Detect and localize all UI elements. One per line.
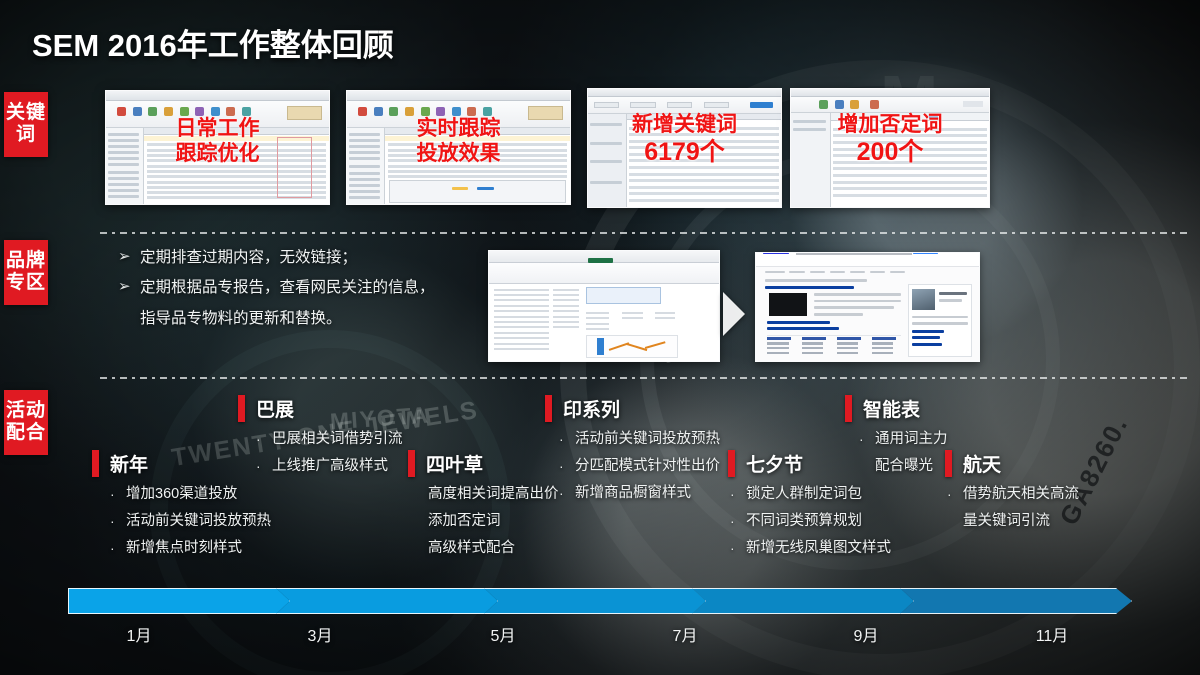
list-bullet-icon: · <box>110 511 126 531</box>
event-accent-bar <box>92 450 99 477</box>
event-accent-bar <box>845 395 852 422</box>
event-title: 印系列 <box>563 395 620 422</box>
event-title: 四叶草 <box>426 450 483 477</box>
month-label: 1月 <box>127 622 152 646</box>
brandzone-bullet-1-text: 定期排查过期内容，无效链接； <box>140 246 357 269</box>
brandzone-bullet-2: ➢ 定期根据品专报告，查看网民关注的信息， <box>118 276 498 299</box>
keyword-card-1[interactable]: 日常工作 跟踪优化 <box>105 90 330 205</box>
month-label: 9月 <box>854 622 879 646</box>
event-item: 活动前关键词投放预热 <box>575 429 720 450</box>
event-accent-bar <box>945 450 952 477</box>
keyword-card-3-text: 新增关键词 6179个 <box>588 113 781 167</box>
brandzone-serp-screenshot[interactable] <box>755 252 980 362</box>
list-bullet-icon: · <box>947 484 963 504</box>
bullet-arrow-icon: ➢ <box>118 246 140 269</box>
event-item: 活动前关键词投放预热 <box>126 511 271 532</box>
event-item: 借势航天相关高流 <box>963 484 1079 505</box>
keyword-card-1-text: 日常工作 跟踪优化 <box>106 117 329 167</box>
timeline-arrow-bar <box>68 588 1132 614</box>
timeline-segment-2 <box>276 588 498 614</box>
list-bullet-icon: · <box>730 538 746 558</box>
list-bullet-icon: · <box>730 484 746 504</box>
event-item: 配合曝光 <box>875 456 933 477</box>
event-item: 锁定人群制定词包 <box>746 484 862 505</box>
list-bullet-icon: · <box>559 456 575 476</box>
bullet-arrow-icon: ➢ <box>118 276 140 299</box>
section-divider-bottom <box>100 377 1192 379</box>
month-label: 11月 <box>1036 622 1069 646</box>
keyword-card-2-text: 实时跟踪 投放效果 <box>347 117 570 167</box>
brandzone-excel-screenshot[interactable] <box>488 250 720 362</box>
event-item: 上线推广高级样式 <box>272 456 388 477</box>
event-accent-bar <box>238 395 245 422</box>
timeline-event-mwc[interactable]: 巴展 ·巴展相关词借势引流 ·上线推广高级样式 <box>238 395 403 483</box>
timeline-segment-3 <box>484 588 706 614</box>
keyword-card-2[interactable]: 实时跟踪 投放效果 <box>346 90 571 205</box>
list-bullet-icon: · <box>110 538 126 558</box>
event-item: 增加360渠道投放 <box>126 484 237 505</box>
list-bullet-icon: · <box>859 429 875 449</box>
event-item: 高级样式配合 <box>428 538 515 559</box>
brandzone-bullet-2-continuation: 指导品专物料的更新和替换。 <box>140 307 498 330</box>
event-item: 新增焦点时刻样式 <box>126 538 242 559</box>
event-title: 巴展 <box>256 395 294 422</box>
list-bullet-icon: · <box>730 511 746 531</box>
list-bullet-icon: · <box>559 483 575 503</box>
event-item: 巴展相关词借势引流 <box>272 429 403 450</box>
arrow-right-icon <box>723 292 745 336</box>
event-item: 通用词主力 <box>875 429 948 450</box>
sidebar-tab-keywords[interactable]: 关键词 <box>4 92 48 157</box>
sidebar-tab-campaign[interactable]: 活动配合 <box>4 390 48 455</box>
timeline-segment-1 <box>68 588 290 614</box>
event-item: 高度相关词提高出价 <box>428 484 559 505</box>
event-accent-bar <box>545 395 552 422</box>
list-bullet-icon: · <box>256 429 272 449</box>
keyword-card-4[interactable]: 增加否定词 200个 <box>790 88 990 208</box>
month-label: 3月 <box>308 622 333 646</box>
month-label: 5月 <box>491 622 516 646</box>
keyword-card-4-text: 增加否定词 200个 <box>791 113 989 167</box>
list-bullet-icon: · <box>559 429 575 449</box>
timeline-event-aerospace[interactable]: 航天 ·借势航天相关高流 量关键词引流 <box>945 450 1079 538</box>
timeline-month-labels: 1月 3月 5月 7月 9月 11月 <box>0 622 1200 652</box>
event-title: 智能表 <box>863 395 920 422</box>
event-accent-bar <box>408 450 415 477</box>
list-bullet-icon: · <box>110 484 126 504</box>
brandzone-bullet-2-text: 定期根据品专报告，查看网民关注的信息， <box>140 276 435 299</box>
timeline-event-clover[interactable]: 四叶草 高度相关词提高出价 添加否定词 高级样式配合 <box>408 450 559 565</box>
timeline-segment-5 <box>900 588 1132 614</box>
slide-canvas: TWENTY-ONE JEWELS MIYOTA JAPAN GA8260. M… <box>0 0 1200 675</box>
timeline-event-yinseries[interactable]: 印系列 ·活动前关键词投放预热 ·分匹配模式针对性出价 ·新增商品橱窗样式 <box>545 395 720 510</box>
event-title: 七夕节 <box>746 450 803 477</box>
list-bullet-icon: · <box>256 456 272 476</box>
timeline-segment-4 <box>692 588 914 614</box>
event-item: 量关键词引流 <box>963 511 1050 532</box>
page-title: SEM 2016年工作整体回顾 <box>32 20 394 65</box>
brandzone-bullet-list: ➢ 定期排查过期内容，无效链接； ➢ 定期根据品专报告，查看网民关注的信息， 指… <box>118 246 498 330</box>
month-label: 7月 <box>673 622 698 646</box>
event-accent-bar <box>728 450 735 477</box>
event-item: 分匹配模式针对性出价 <box>575 456 720 477</box>
event-item: 添加否定词 <box>428 511 501 532</box>
event-item: 不同词类预算规划 <box>746 511 862 532</box>
keyword-card-3[interactable]: 新增关键词 6179个 <box>587 88 782 208</box>
event-title: 航天 <box>963 450 1001 477</box>
section-divider-top <box>100 232 1192 234</box>
event-title: 新年 <box>110 450 148 477</box>
sidebar-tab-brandzone[interactable]: 品牌专区 <box>4 240 48 305</box>
event-item: 新增商品橱窗样式 <box>575 483 691 504</box>
timeline-event-smartwatch[interactable]: 智能表 ·通用词主力 配合曝光 <box>845 395 948 483</box>
event-item: 新增无线凤巢图文样式 <box>746 538 891 559</box>
brandzone-bullet-1: ➢ 定期排查过期内容，无效链接； <box>118 246 498 269</box>
